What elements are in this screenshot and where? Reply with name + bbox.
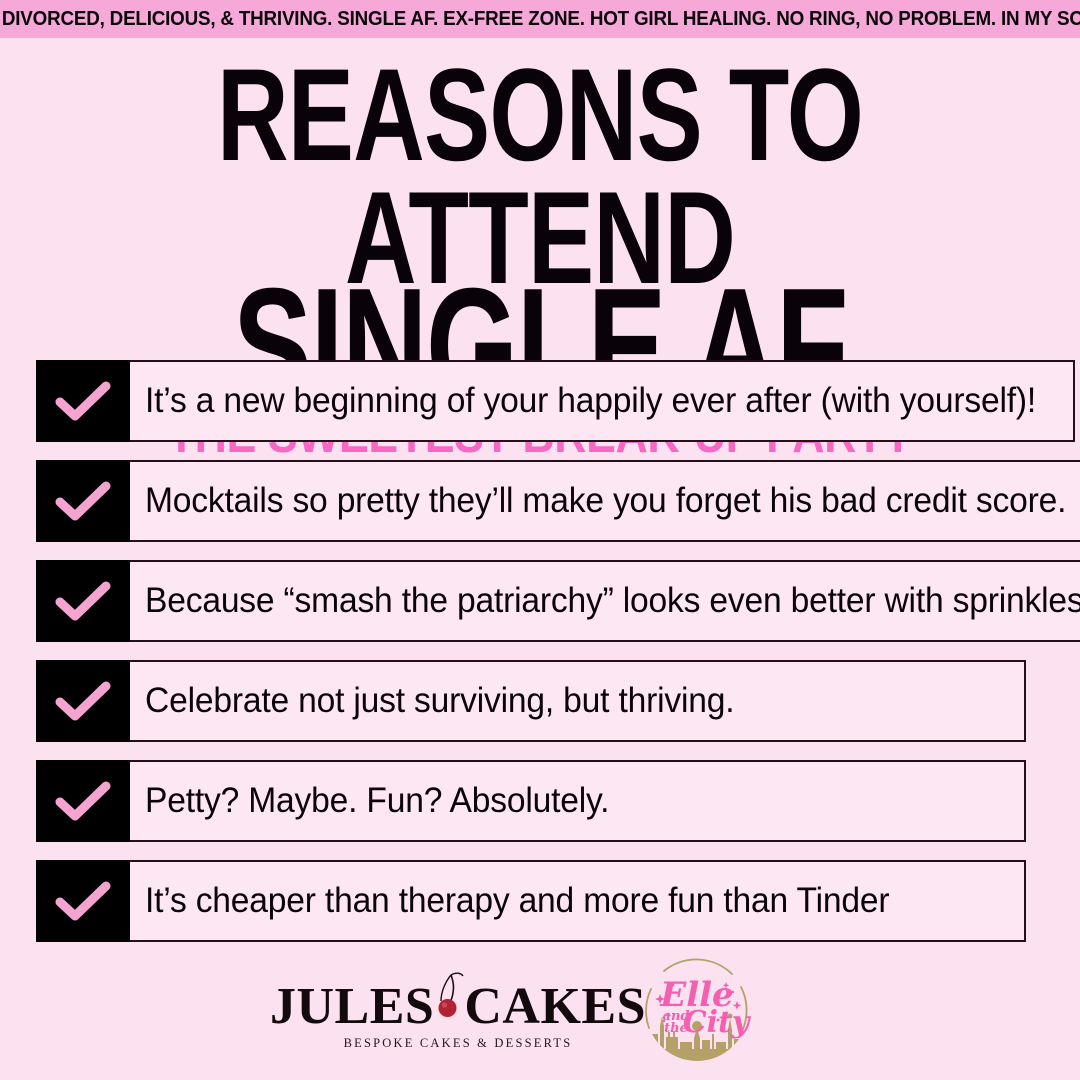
check-icon-container — [36, 460, 130, 542]
list-item: Petty? Maybe. Fun? Absolutely. — [36, 760, 1026, 842]
list-item-label: It’s cheaper than therapy and more fun t… — [145, 882, 889, 920]
list-item-text-box: Mocktails so pretty they’ll make you for… — [129, 460, 1080, 542]
list-item: Mocktails so pretty they’ll make you for… — [36, 460, 1026, 542]
check-icon-container — [36, 760, 130, 842]
list-item: It’s a new beginning of your happily eve… — [36, 360, 1026, 442]
jules-word-left: JULES — [270, 980, 434, 1034]
check-icon — [54, 879, 112, 923]
list-item-label: It’s a new beginning of your happily eve… — [145, 382, 1036, 420]
list-item-text-box: Celebrate not just surviving, but thrivi… — [129, 660, 1026, 742]
marquee-banner: DIVORCED, DELICIOUS, & THRIVING. SINGLE … — [0, 0, 1080, 38]
check-icon — [54, 379, 112, 423]
list-item: Celebrate not just surviving, but thrivi… — [36, 660, 1026, 742]
check-icon-container — [36, 360, 130, 442]
jules-word-right: CAKES — [464, 980, 646, 1034]
check-icon — [54, 679, 112, 723]
cherry-icon — [434, 969, 464, 1023]
list-item-text-box: It’s cheaper than therapy and more fun t… — [129, 860, 1026, 942]
list-item-text-box: Because “smash the patriarchy” looks eve… — [129, 560, 1080, 642]
check-icon — [54, 479, 112, 523]
jules-cakes-tagline: BESPOKE CAKES & DESSERTS — [324, 1036, 592, 1051]
elle-and-the-city-logo: Elle and the City — [638, 954, 756, 1066]
jules-cakes-logo: JULES CAKES BESPOKE CAKES & DESSERTS — [324, 969, 592, 1051]
check-icon-container — [36, 560, 130, 642]
footer-logos: JULES CAKES BESPOKE CAKES & DESSERTS — [0, 954, 1080, 1066]
check-icon-container — [36, 660, 130, 742]
reasons-checklist: It’s a new beginning of your happily eve… — [36, 360, 1026, 960]
check-icon — [54, 779, 112, 823]
list-item-text-box: Petty? Maybe. Fun? Absolutely. — [129, 760, 1026, 842]
list-item: Because “smash the patriarchy” looks eve… — [36, 560, 1026, 642]
jules-cakes-wordmark: JULES CAKES — [324, 969, 592, 1034]
check-icon — [54, 579, 112, 623]
elle-script-city: City — [683, 1005, 752, 1040]
list-item-text-box: It’s a new beginning of your happily eve… — [129, 360, 1075, 442]
list-item-label: Celebrate not just surviving, but thrivi… — [145, 682, 734, 720]
list-item-label: Mocktails so pretty they’ll make you for… — [145, 482, 1066, 520]
check-icon-container — [36, 860, 130, 942]
marquee-text: DIVORCED, DELICIOUS, & THRIVING. SINGLE … — [0, 0, 1080, 38]
list-item-label: Petty? Maybe. Fun? Absolutely. — [145, 782, 609, 820]
list-item-label: Because “smash the patriarchy” looks eve… — [145, 582, 1080, 620]
list-item: It’s cheaper than therapy and more fun t… — [36, 860, 1026, 942]
